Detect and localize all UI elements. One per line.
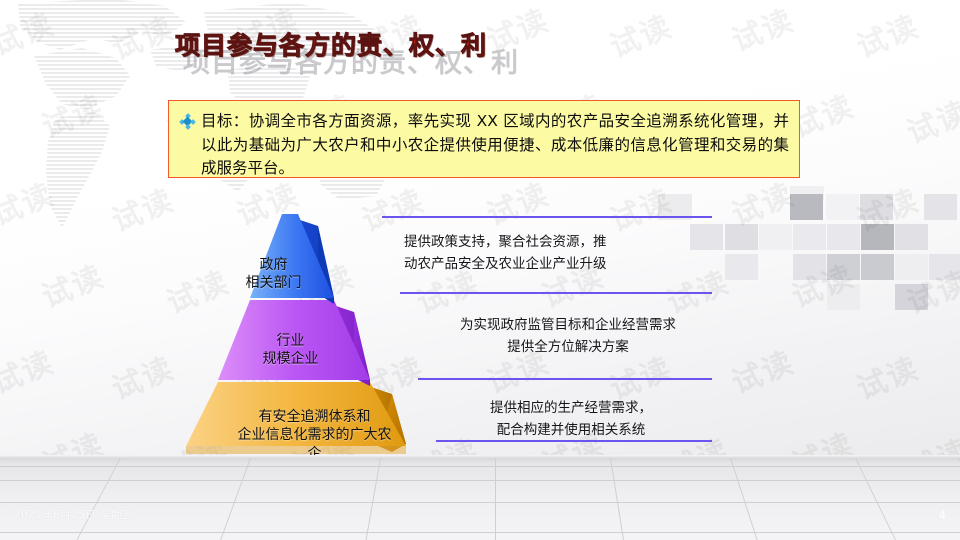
floor-line-h — [0, 480, 960, 481]
desc1-line2: 动农产品安全及农业企业产业升级 — [404, 254, 720, 276]
watermark-text: 试读 — [899, 88, 960, 153]
watermark-text: 试读 — [34, 252, 110, 317]
watermark-text: 试读 — [849, 2, 925, 67]
watermark-text: 试读 — [899, 258, 960, 323]
watermark-text: 试读 — [0, 338, 60, 403]
mosaic-square — [827, 254, 860, 280]
floor-grid — [0, 458, 960, 540]
mosaic-square — [860, 194, 893, 220]
mosaic-square — [759, 224, 792, 250]
description-farmer: 提供相应的生产经营需求， 配合构建并使用相关系统 — [436, 398, 706, 442]
footer-date: 2021年6月25日 星期五 — [14, 507, 133, 522]
goal-callout-box: 目标：协调全市各方面资源，率先实现 XX 区域内的农产品安全追溯系统化管理，并以… — [168, 100, 800, 178]
mosaic-square — [861, 224, 894, 250]
floor-line-v — [76, 458, 121, 540]
watermark-text: 试读 — [0, 170, 60, 235]
floor-line-v — [610, 458, 624, 540]
watermark-text: 试读 — [34, 82, 110, 147]
presentation-slide: 试读 试读 试读 试读 试读 试读 试读 试读 试读 试读 试读 试读 试读 试… — [0, 0, 960, 540]
description-government: 提供政策支持，聚合社会资源，推 动农产品安全及农业企业产业升级 — [404, 232, 720, 276]
goal-text: 目标：协调全市各方面资源，率先实现 XX 区域内的农产品安全追溯系统化管理，并以… — [201, 110, 789, 181]
watermark-text: 试读 — [784, 252, 860, 317]
watermark-text: 试读 — [849, 176, 925, 241]
mosaic-square — [790, 194, 823, 220]
floor-line-v — [220, 458, 251, 540]
mosaic-square — [790, 186, 824, 200]
mosaic-square — [861, 254, 894, 280]
mosaic-square — [929, 254, 960, 280]
desc2-line2: 提供全方位解决方案 — [422, 337, 714, 359]
pyramid-tier-bottom — [186, 382, 406, 454]
mosaic-square — [924, 194, 957, 220]
mosaic-square — [725, 254, 758, 280]
mosaic-square — [895, 284, 928, 310]
mosaic-square — [826, 194, 859, 220]
watermark-text: 试读 — [0, 0, 60, 64]
mosaic-square — [725, 224, 758, 250]
desc3-line2: 配合构建并使用相关系统 — [436, 420, 706, 442]
watermark-text: 试读 — [104, 4, 180, 69]
floor-line-v — [0, 458, 1, 540]
watermark-text: 试读 — [724, 338, 800, 403]
pyramid-tier-middle — [218, 300, 370, 386]
mosaic-square — [793, 254, 826, 280]
desc2-line1: 为实现政府监管目标和企业经营需求 — [422, 315, 714, 337]
watermark-text: 试读 — [104, 344, 180, 409]
page-title: 项目参与各方的责、权、利 — [175, 26, 487, 62]
mosaic-square — [895, 224, 928, 250]
watermark-text: 试读 — [724, 0, 800, 60]
mosaic-square — [827, 284, 860, 310]
watermark-text: 试读 — [602, 176, 678, 241]
footer-page-number: 4 — [939, 509, 946, 522]
divider-rule-2 — [400, 292, 712, 294]
floor-line-h — [0, 502, 960, 503]
slide-title: 项目参与各方的责、权、利 项目参与各方的责、权、利 — [175, 24, 735, 80]
watermark-text: 试读 — [849, 344, 925, 409]
pyramid-tier-top — [250, 214, 334, 304]
desc3-line1: 提供相应的生产经营需求， — [436, 398, 706, 420]
mosaic-square — [827, 224, 860, 250]
description-enterprise: 为实现政府监管目标和企业经营需求 提供全方位解决方案 — [422, 315, 714, 359]
floor-line-h — [0, 466, 960, 467]
floor-line-h — [0, 532, 960, 533]
floor-line-v — [730, 458, 758, 540]
mosaic-square — [895, 254, 928, 280]
watermark-text: 试读 — [104, 176, 180, 241]
divider-rule-3 — [418, 378, 712, 380]
divider-rule-4 — [436, 440, 712, 442]
floor-line-v — [495, 458, 496, 540]
desc1-line1: 提供政策支持，聚合社会资源，推 — [404, 232, 720, 254]
divider-rule-1 — [382, 216, 712, 218]
floor-line-v — [366, 458, 381, 540]
diamond-bullet-icon — [180, 114, 195, 129]
mosaic-square — [793, 224, 826, 250]
floor-line-v — [855, 458, 896, 540]
